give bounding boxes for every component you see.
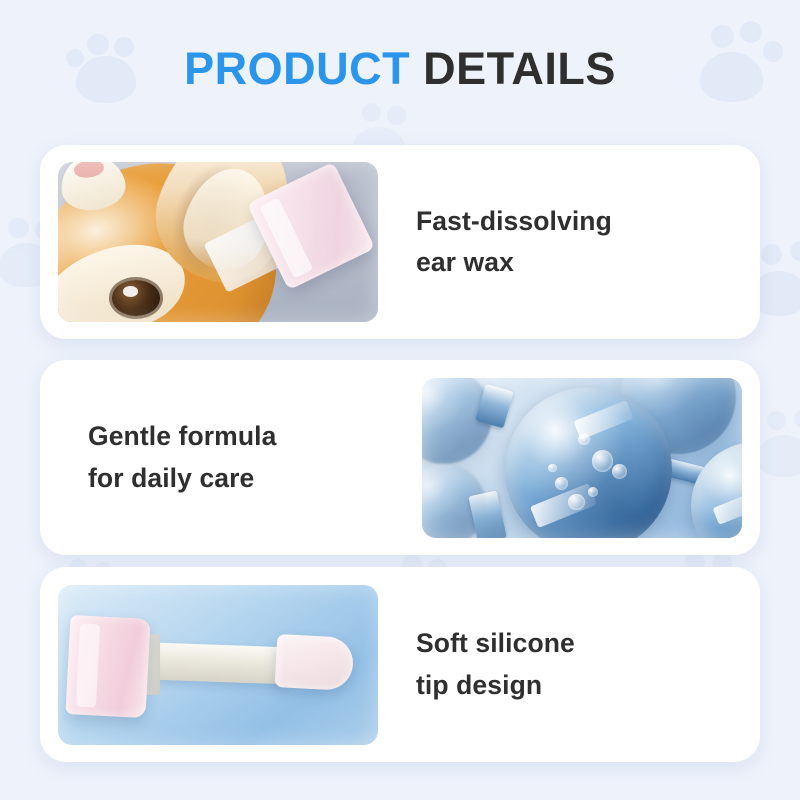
feature-text-line-1: Soft silicone [416,623,750,664]
pink-dropper-silicone-tip-photo [58,585,378,745]
feature-card-soft-silicone[interactable]: Soft silicone tip design [40,567,760,762]
dog-eye-shape [112,280,160,315]
silicone-tip-shape [274,634,353,691]
header: PRODUCT DETAILS [0,46,800,91]
feature-card-text: Soft silicone tip design [396,623,760,705]
feature-card-text: Gentle formula for daily care [40,416,404,498]
feature-text-line-1: Gentle formula [88,416,394,457]
dropper-stem-shape [153,643,289,684]
page-title: PRODUCT DETAILS [0,46,800,91]
feature-text-line-2: tip design [416,665,750,706]
feature-text-line-2: ear wax [416,242,750,283]
feature-card-fast-dissolving[interactable]: Fast-dissolving ear wax [40,145,760,339]
feature-text-line-1: Fast-dissolving [416,201,750,242]
bubble [612,464,627,479]
molecule-sphere-right [691,442,742,538]
feature-card-text: Fast-dissolving ear wax [396,201,760,283]
page-title-primary: PRODUCT [184,43,410,94]
bubble [568,494,585,511]
page-title-secondary: DETAILS [423,43,616,94]
sphere-highlight [712,489,742,525]
dropper-pink-cap-shape [65,614,150,717]
corgi-dog-with-dropper-bottle-photo [58,162,378,322]
bubble [555,477,568,490]
bubble [548,464,556,472]
feature-card-gentle-formula[interactable]: Gentle formula for daily care [40,360,760,555]
bubble [578,434,590,446]
blue-molecule-spheres-photo [422,378,742,538]
feature-text-line-2: for daily care [88,458,394,499]
bubble [592,450,614,472]
molecule-sphere-main [505,387,671,537]
bubble [588,487,598,497]
